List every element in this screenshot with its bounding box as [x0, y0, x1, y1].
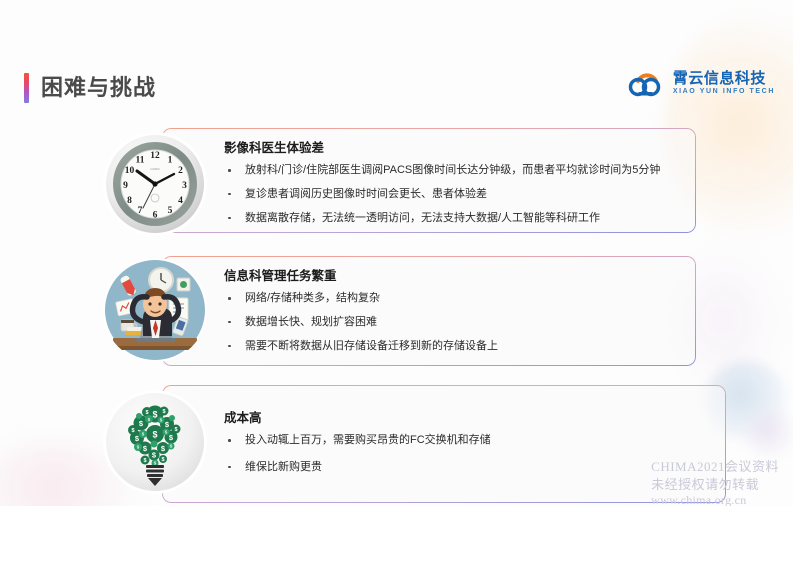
list-item: 数据增长快、规划扩容困难	[224, 315, 682, 330]
logo-name-en: XIAO YUN INFO TECH	[673, 88, 775, 96]
list-item: 复诊患者调阅历史图像时时间会更长、患者体验差	[224, 187, 682, 202]
title-text: 困难与挑战	[41, 77, 156, 99]
card-title: 信息科管理任务繁重	[224, 269, 682, 284]
logo-text-block: 霄云信息科技 XIAO YUN INFO TECH	[673, 71, 775, 95]
card-bullet-list: 网络/存储种类多，结构复杂 数据增长快、规划扩容困难 需要不断将数据从旧存储设备…	[224, 291, 682, 354]
money-lightbulb-illustration-icon: $$ $$ $$ $$ $ $$ $$ $$ $$ $$ $$ $	[103, 390, 207, 494]
svg-text:$: $	[174, 427, 177, 433]
busy-office-worker-illustration-icon	[103, 258, 207, 362]
svg-text:4: 4	[178, 196, 183, 206]
svg-text:$: $	[131, 428, 134, 434]
svg-text:1: 1	[168, 156, 173, 166]
svg-text:3: 3	[182, 181, 187, 191]
svg-text:$: $	[152, 430, 157, 440]
svg-text:6: 6	[153, 211, 158, 221]
list-item: 维保比新购更贵	[224, 460, 712, 475]
list-item: 需要不断将数据从旧存储设备迁移到新的存储设备上	[224, 339, 682, 354]
svg-text:$: $	[152, 410, 157, 420]
list-item: 放射科/门诊/住院部医生调阅PACS图像时间长达分钟级，而患者平均就诊时间为5分…	[224, 163, 682, 178]
svg-text:2: 2	[178, 166, 183, 176]
card-title: 成本高	[224, 411, 712, 426]
company-logo: 霄云信息科技 XIAO YUN INFO TECH	[628, 66, 775, 100]
card-body: 信息科管理任务繁重 网络/存储种类多，结构复杂 数据增长快、规划扩容困难 需要不…	[162, 256, 696, 354]
svg-text:7: 7	[138, 206, 143, 216]
card-bullet-list: 放射科/门诊/住院部医生调阅PACS图像时间长达分钟级，而患者平均就诊时间为5分…	[224, 163, 682, 226]
card-title: 影像科医生体验差	[224, 141, 682, 156]
svg-text:CASIO: CASIO	[150, 167, 160, 171]
svg-text:12: 12	[150, 151, 160, 161]
svg-text:$: $	[145, 410, 148, 416]
logo-name-cn: 霄云信息科技	[673, 71, 775, 87]
list-item: 数据离散存储，无法统一透明访问，无法支持大数据/人工智能等科研工作	[224, 211, 682, 226]
svg-text:$: $	[161, 457, 164, 463]
svg-text:$: $	[162, 409, 165, 415]
background-bubble-right-small	[745, 408, 793, 460]
svg-text:8: 8	[127, 196, 132, 206]
card-body: 成本高 投入动辄上百万，需要购买昂贵的FC交换机和存储 维保比新购更贵	[162, 385, 726, 475]
list-item: 投入动辄上百万，需要购买昂贵的FC交换机和存储	[224, 433, 712, 448]
cloud-logo-icon	[628, 68, 666, 98]
challenge-card: 信息科管理任务繁重 网络/存储种类多，结构复杂 数据增长快、规划扩容困难 需要不…	[162, 256, 696, 366]
svg-text:11: 11	[136, 156, 145, 166]
list-item: 网络/存储种类多，结构复杂	[224, 291, 682, 306]
svg-text:5: 5	[168, 206, 173, 216]
svg-text:9: 9	[123, 181, 128, 191]
svg-text:$: $	[143, 458, 146, 464]
card-bullet-list: 投入动辄上百万，需要购买昂贵的FC交换机和存储 维保比新购更贵	[224, 433, 712, 475]
page-title: 困难与挑战	[24, 71, 156, 105]
svg-text:10: 10	[125, 166, 135, 176]
challenge-card: 影像科医生体验差 放射科/门诊/住院部医生调阅PACS图像时间长达分钟级，而患者…	[162, 128, 696, 233]
slide-canvas: 困难与挑战 霄云信息科技 XIAO YUN INFO TECH 影像科医生体验差…	[0, 0, 793, 506]
title-accent-bar	[24, 73, 29, 103]
card-body: 影像科医生体验差 放射科/门诊/住院部医生调阅PACS图像时间长达分钟级，而患者…	[162, 128, 696, 226]
wall-clock-illustration-icon: 12 1 2 3 4 5 6 7 8 9 10 11 CASIO	[103, 132, 207, 236]
challenge-card: 成本高 投入动辄上百万，需要购买昂贵的FC交换机和存储 维保比新购更贵	[162, 385, 726, 503]
